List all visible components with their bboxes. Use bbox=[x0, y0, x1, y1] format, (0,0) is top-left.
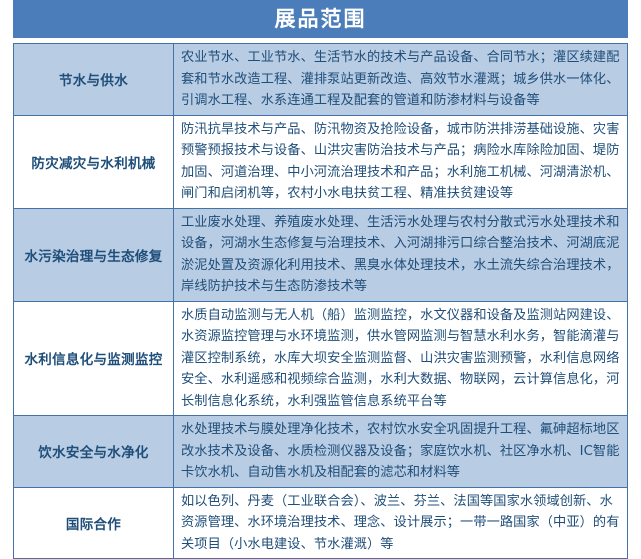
table-row: 饮水安全与水净化 水处理技术与膜处理净化技术，农村饮水安全巩固提升工程、氟砷超标… bbox=[14, 416, 628, 488]
table-row: 水利信息化与监测监控 水质自动监测与无人机（船）监测监控，水文仪器和设备及监测站… bbox=[14, 301, 628, 416]
exhibit-scope-table: 节水与供水 农业节水、工业节水、生活节水的技术与产品设备、合同节水；灌区续建配套… bbox=[13, 43, 628, 559]
page-title: 展品范围 bbox=[275, 9, 367, 30]
category-cell: 国际合作 bbox=[14, 487, 174, 559]
category-cell: 水利信息化与监测监控 bbox=[14, 301, 174, 416]
table-row: 国际合作 如以色列、丹麦（工业联合会）、波兰、芬兰、法国等国家水领域创新、水资源… bbox=[14, 487, 628, 559]
table-row: 节水与供水 农业节水、工业节水、生活节水的技术与产品设备、合同节水；灌区续建配套… bbox=[14, 44, 628, 116]
table-body: 节水与供水 农业节水、工业节水、生活节水的技术与产品设备、合同节水；灌区续建配套… bbox=[14, 44, 628, 559]
description-cell: 水处理技术与膜处理净化技术，农村饮水安全巩固提升工程、氟砷超标地区改水技术及设备… bbox=[174, 416, 628, 488]
description-cell: 工业废水处理、养殖废水处理、生活污水处理与农村分散式污水处理技术和设备，河湖水生… bbox=[174, 208, 628, 301]
category-cell: 水污染治理与生态修复 bbox=[14, 208, 174, 301]
table-row: 水污染治理与生态修复 工业废水处理、养殖废水处理、生活污水处理与农村分散式污水处… bbox=[14, 208, 628, 301]
description-cell: 农业节水、工业节水、生活节水的技术与产品设备、合同节水；灌区续建配套和节水改造工… bbox=[174, 44, 628, 116]
description-cell: 如以色列、丹麦（工业联合会）、波兰、芬兰、法国等国家水领域创新、水资源管理、水环… bbox=[174, 487, 628, 559]
category-cell: 节水与供水 bbox=[14, 44, 174, 116]
description-cell: 水质自动监测与无人机（船）监测监控，水文仪器和设备及监测站网建设、水资源监控管理… bbox=[174, 301, 628, 416]
table-row: 防灾减灾与水利机械 防汛抗旱技术与产品、防汛物资及抢险设备，城市防洪排涝基础设施… bbox=[14, 115, 628, 208]
exhibit-scope-page: 展品范围 节水与供水 农业节水、工业节水、生活节水的技术与产品设备、合同节水；灌… bbox=[0, 0, 641, 521]
category-cell: 饮水安全与水净化 bbox=[14, 416, 174, 488]
category-cell: 防灾减灾与水利机械 bbox=[14, 115, 174, 208]
page-title-bar: 展品范围 bbox=[13, 0, 628, 38]
description-cell: 防汛抗旱技术与产品、防汛物资及抢险设备，城市防洪排涝基础设施、灾害预警预报技术与… bbox=[174, 115, 628, 208]
